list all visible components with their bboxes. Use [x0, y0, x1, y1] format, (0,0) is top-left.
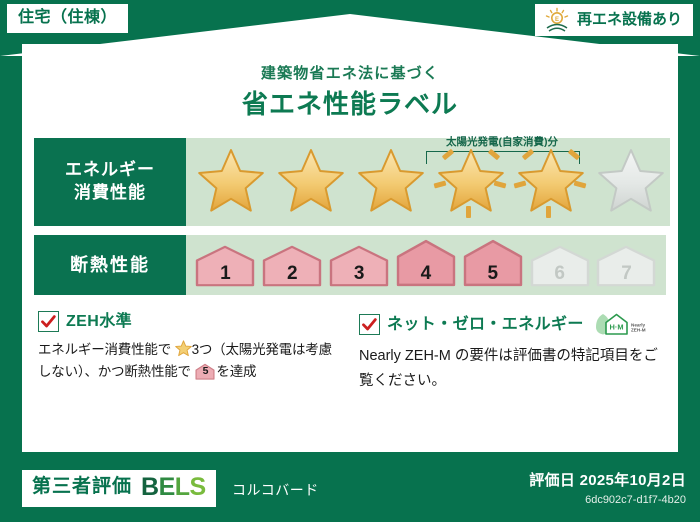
nze-note-body: Nearly ZEH-M の要件は評価書の特記項目をご覧ください。 — [359, 344, 664, 393]
star-filled-icon — [274, 146, 348, 218]
star-empty-icon — [594, 146, 668, 218]
insulation-grade-2: 2 — [261, 245, 323, 287]
svg-text:H·M: H·M — [609, 323, 623, 332]
insulation-grade-4: 4 — [395, 239, 457, 287]
note-zeh-standard: ZEH水準 エネルギー消費性能で 3つ（太陽光発電は考慮しない）、かつ断熱性能で… — [38, 311, 343, 393]
insulation-grade-value: 5 — [462, 264, 524, 283]
evaluation-date: 評価日 2025年10月2日 — [529, 471, 686, 491]
star-5 — [512, 142, 590, 222]
star-1 — [192, 142, 270, 222]
energy-label-root: 住宅（住棟） E 再エネ設備あり 建築物省エネ法に基づく 省エネ性 — [0, 0, 700, 522]
energy-row-body: 太陽光発電(自家消費)分 — [186, 138, 670, 226]
star-icon — [175, 340, 192, 357]
bels-wordmark: BELS — [141, 474, 206, 502]
zeh-note-title: ZEH水準 — [66, 312, 132, 331]
insulation-grade-badge-value: 5 — [194, 366, 216, 377]
insulation-grade-6: 6 — [529, 245, 591, 287]
insulation-grade-value: 2 — [261, 264, 323, 283]
insulation-grade-value: 1 — [194, 264, 256, 283]
bels-jp-label: 第三者評価 — [32, 476, 132, 499]
evaluation-id: 6dc902c7-d1f7-4b20 — [529, 494, 686, 507]
renewable-equipment-badge: E 再エネ設備あり — [535, 4, 693, 36]
zeh-body-post: を達成 — [216, 364, 256, 379]
notes-section: ZEH水準 エネルギー消費性能で 3つ（太陽光発電は考慮しない）、かつ断熱性能で… — [38, 311, 664, 393]
insulation-grade-value: 7 — [595, 264, 657, 283]
insulation-grade-scale: 1234567 — [186, 239, 666, 291]
energy-label-line1: エネルギー — [65, 159, 155, 182]
insulation-row-label: 断熱性能 — [34, 235, 186, 295]
star-4 — [432, 142, 510, 222]
title-subtitle: 建築物省エネ法に基づく — [22, 65, 678, 83]
bels-certification-badge: 第三者評価 BELS — [22, 470, 216, 507]
insulation-performance-row: 断熱性能 1234567 — [34, 235, 666, 295]
solar-ray-5-icon — [546, 206, 551, 218]
nze-note-heading: ネット・ゼロ・エネルギー H·M Nearly ZEH-M — [359, 311, 664, 337]
title-main: 省エネ性能ラベル — [22, 89, 678, 120]
star-2 — [272, 142, 350, 222]
bels-letter: B — [141, 473, 159, 501]
bels-letter: L — [175, 473, 190, 501]
evaluation-info: 評価日 2025年10月2日 6dc902c7-d1f7-4b20 — [529, 471, 686, 507]
bels-letter: E — [159, 473, 175, 501]
insulation-grade-value: 4 — [395, 264, 457, 283]
check-icon — [359, 314, 380, 335]
svg-text:E: E — [555, 17, 559, 23]
energy-performance-row: エネルギー 消費性能 太陽光発電(自家消費)分 — [34, 138, 666, 226]
insulation-grade-badge: 5 — [194, 363, 216, 380]
sun-renewable-icon: E — [544, 7, 570, 33]
check-icon — [38, 311, 59, 332]
insulation-grade-3: 3 — [328, 245, 390, 287]
star-filled-icon — [194, 146, 268, 218]
energy-label-line2: 消費性能 — [74, 182, 146, 205]
zeh-note-heading: ZEH水準 — [38, 311, 343, 332]
zeh-note-body: エネルギー消費性能で 3つ（太陽光発電は考慮しない）、かつ断熱性能で 5 を達成 — [38, 339, 343, 384]
zeh-body-pre: エネルギー消費性能で — [38, 342, 171, 357]
nearly-zeh-m-logo-icon: H·M Nearly ZEH-M — [593, 311, 651, 337]
footer: 第三者評価 BELS コルコバード 評価日 2025年10月2日 6dc902c… — [0, 462, 700, 522]
metric-rows: エネルギー 消費性能 太陽光発電(自家消費)分 断熱性能 1234567 — [34, 138, 666, 295]
label-card: 建築物省エネ法に基づく 省エネ性能ラベル エネルギー 消費性能 太陽光発電(自家… — [22, 44, 678, 452]
star-rating — [186, 142, 670, 222]
renewable-badge-label: 再エネ設備あり — [577, 10, 682, 30]
building-name: コルコバード — [232, 482, 319, 499]
insulation-grade-1: 1 — [194, 245, 256, 287]
note-net-zero-energy: ネット・ゼロ・エネルギー H·M Nearly ZEH-M Nearly ZEH… — [359, 311, 664, 393]
insulation-grade-value: 6 — [529, 264, 591, 283]
star-filled-icon — [354, 146, 428, 218]
housing-type-badge: 住宅（住棟） — [7, 4, 128, 33]
title-block: 建築物省エネ法に基づく 省エネ性能ラベル — [22, 44, 678, 120]
solar-ray-5-icon — [466, 206, 471, 218]
star-6 — [592, 142, 670, 222]
energy-row-label: エネルギー 消費性能 — [34, 138, 186, 226]
insulation-grade-5: 5 — [462, 239, 524, 287]
insulation-grade-value: 3 — [328, 264, 390, 283]
star-3 — [352, 142, 430, 222]
nze-note-title: ネット・ゼロ・エネルギー — [387, 315, 584, 334]
bels-letter: S — [190, 473, 206, 501]
svg-text:ZEH-M: ZEH-M — [631, 328, 646, 333]
insulation-grade-7: 7 — [595, 245, 657, 287]
insulation-row-body: 1234567 — [186, 235, 666, 295]
